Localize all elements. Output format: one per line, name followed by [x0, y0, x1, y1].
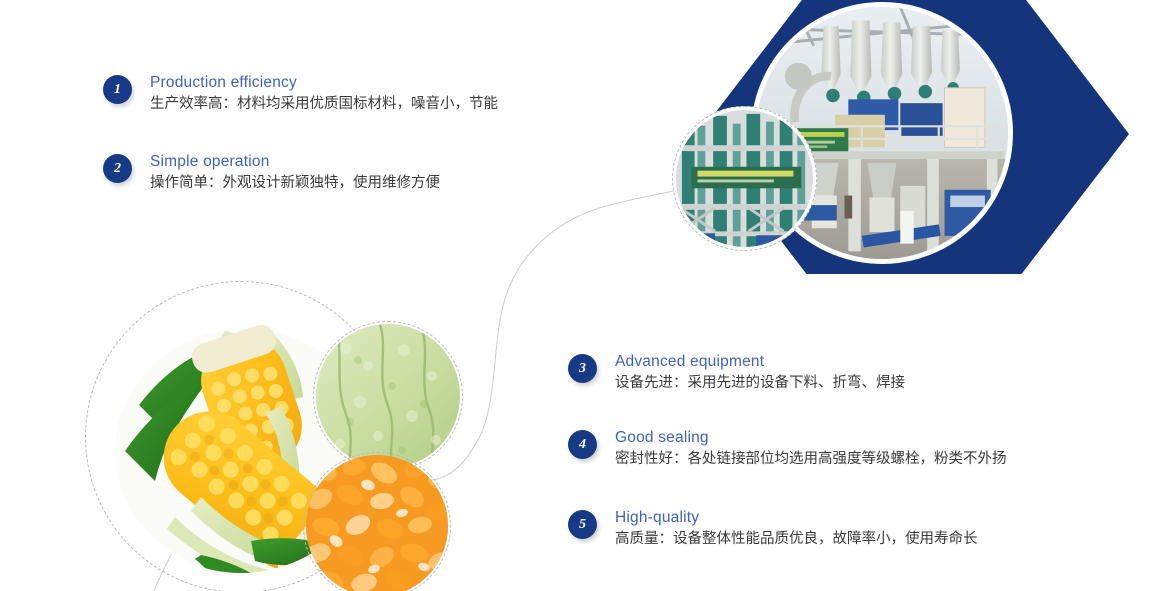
- feature-description-3: 设备先进：采用先进的设备下料、折弯、焊接: [615, 372, 905, 394]
- machine-media-cluster: [663, 0, 1154, 279]
- feature-badge-5: 5: [568, 510, 597, 539]
- feature-item-4[interactable]: 4 Good sealing 密封性好：各处链接部位均选用高强度等级螺栓，粉类不…: [568, 428, 1007, 470]
- feature-text-1: Production efficiency 生产效率高：材料均采用优质国标材料，…: [150, 73, 498, 115]
- corn-grits-ring: [303, 452, 451, 591]
- feature-description-4: 密封性好：各处链接部位均选用高强度等级螺栓，粉类不外扬: [615, 448, 1007, 470]
- feature-badge-1: 1: [103, 75, 132, 104]
- feature-item-5[interactable]: 5 High-quality 高质量：设备整体性能品质优良，故障率小，使用寿命长: [568, 508, 978, 550]
- infographic-canvas: 1 Production efficiency 生产效率高：材料均采用优质国标材…: [0, 0, 1154, 591]
- feature-title-5: High-quality: [615, 508, 978, 527]
- corn-media-cluster: [85, 281, 490, 591]
- feature-description-1: 生产效率高：材料均采用优质国标材料，噪音小，节能: [150, 93, 498, 115]
- feature-text-4: Good sealing 密封性好：各处链接部位均选用高强度等级螺栓，粉类不外扬: [615, 428, 1007, 470]
- feature-item-1[interactable]: 1 Production efficiency 生产效率高：材料均采用优质国标材…: [103, 73, 498, 115]
- feature-title-4: Good sealing: [615, 428, 1007, 447]
- feature-text-2: Simple operation 操作简单：外观设计新颖独特，使用维修方便: [150, 152, 440, 194]
- feature-item-2[interactable]: 2 Simple operation 操作简单：外观设计新颖独特，使用维修方便: [103, 152, 440, 194]
- feature-text-3: Advanced equipment 设备先进：采用先进的设备下料、折弯、焊接: [615, 352, 905, 394]
- feature-title-3: Advanced equipment: [615, 352, 905, 371]
- feature-title-1: Production efficiency: [150, 73, 498, 92]
- feature-description-5: 高质量：设备整体性能品质优良，故障率小，使用寿命长: [615, 528, 978, 550]
- feature-item-3[interactable]: 3 Advanced equipment 设备先进：采用先进的设备下料、折弯、焊…: [568, 352, 905, 394]
- feature-badge-3: 3: [568, 354, 597, 383]
- feature-badge-4: 4: [568, 430, 597, 459]
- green-paste-ring: [313, 321, 463, 471]
- green-milling-machinery-photo: [672, 106, 817, 251]
- feature-title-2: Simple operation: [150, 152, 440, 171]
- feature-text-5: High-quality 高质量：设备整体性能品质优良，故障率小，使用寿命长: [615, 508, 978, 550]
- feature-badge-2: 2: [103, 154, 132, 183]
- feature-description-2: 操作简单：外观设计新颖独特，使用维修方便: [150, 172, 440, 194]
